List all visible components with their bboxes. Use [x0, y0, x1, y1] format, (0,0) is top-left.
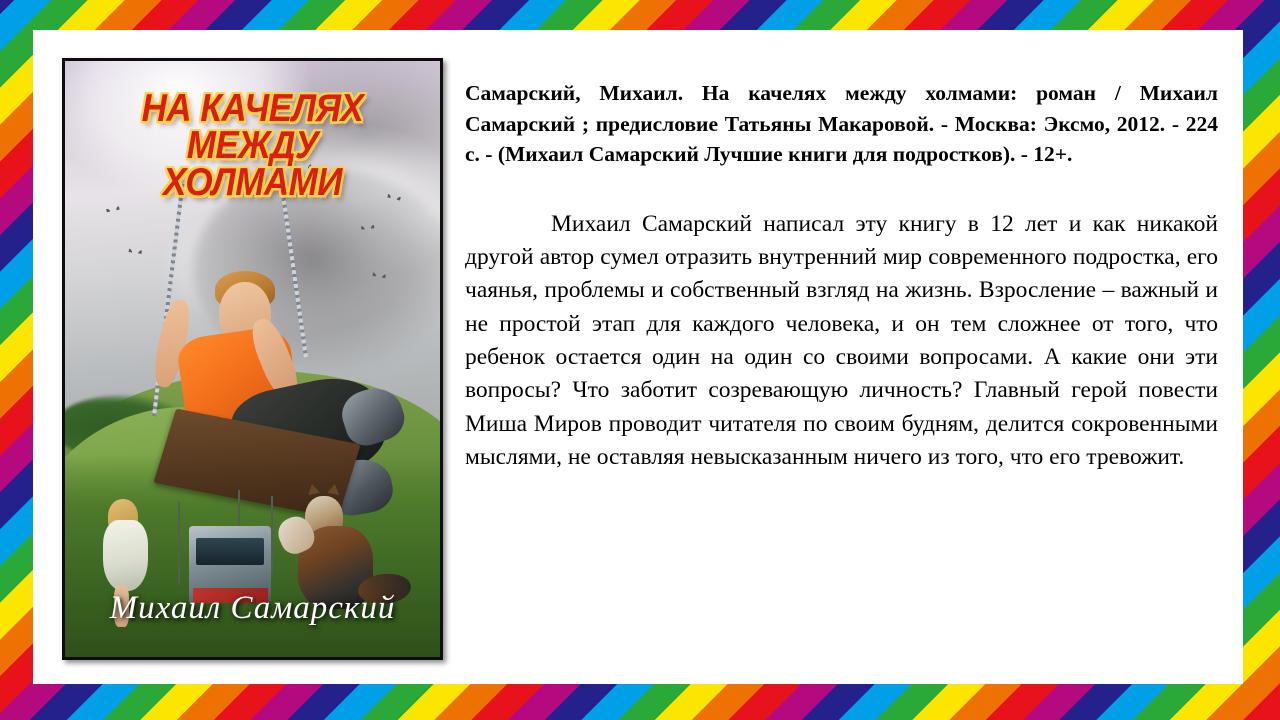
book-cover-image: НА КАЧЕЛЯХ МЕЖДУ ХОЛМАМИ Михаил Самарски…	[62, 58, 443, 660]
train-windshield	[196, 538, 264, 565]
cover-title: НА КАЧЕЛЯХ МЕЖДУ ХОЛМАМИ	[65, 91, 440, 202]
bird-icon	[361, 221, 375, 229]
cover-title-line-1: НА КАЧЕЛЯХ	[65, 91, 440, 128]
bird-icon	[128, 245, 142, 254]
cover-title-line-3: ХОЛМАМИ	[65, 164, 440, 201]
catenary-pole	[178, 502, 180, 585]
white-content-panel: НА КАЧЕЛЯХ МЕЖДУ ХОЛМАМИ Михаил Самарски…	[33, 30, 1243, 684]
slide-canvas: НА КАЧЕЛЯХ МЕЖДУ ХОЛМАМИ Михаил Самарски…	[0, 0, 1280, 720]
text-column: Самарский, Михаил. На качелях между холм…	[465, 78, 1218, 474]
book-annotation: Михаил Самарский написал эту книгу в 12 …	[465, 208, 1218, 475]
girl-white-dress	[103, 520, 148, 592]
catenary-pole	[271, 496, 273, 573]
cover-author-name: Михаил Самарский	[65, 590, 440, 627]
bibliographic-record: Самарский, Михаил. На качелях между холм…	[465, 78, 1218, 170]
cover-title-line-2: МЕЖДУ	[65, 128, 440, 165]
